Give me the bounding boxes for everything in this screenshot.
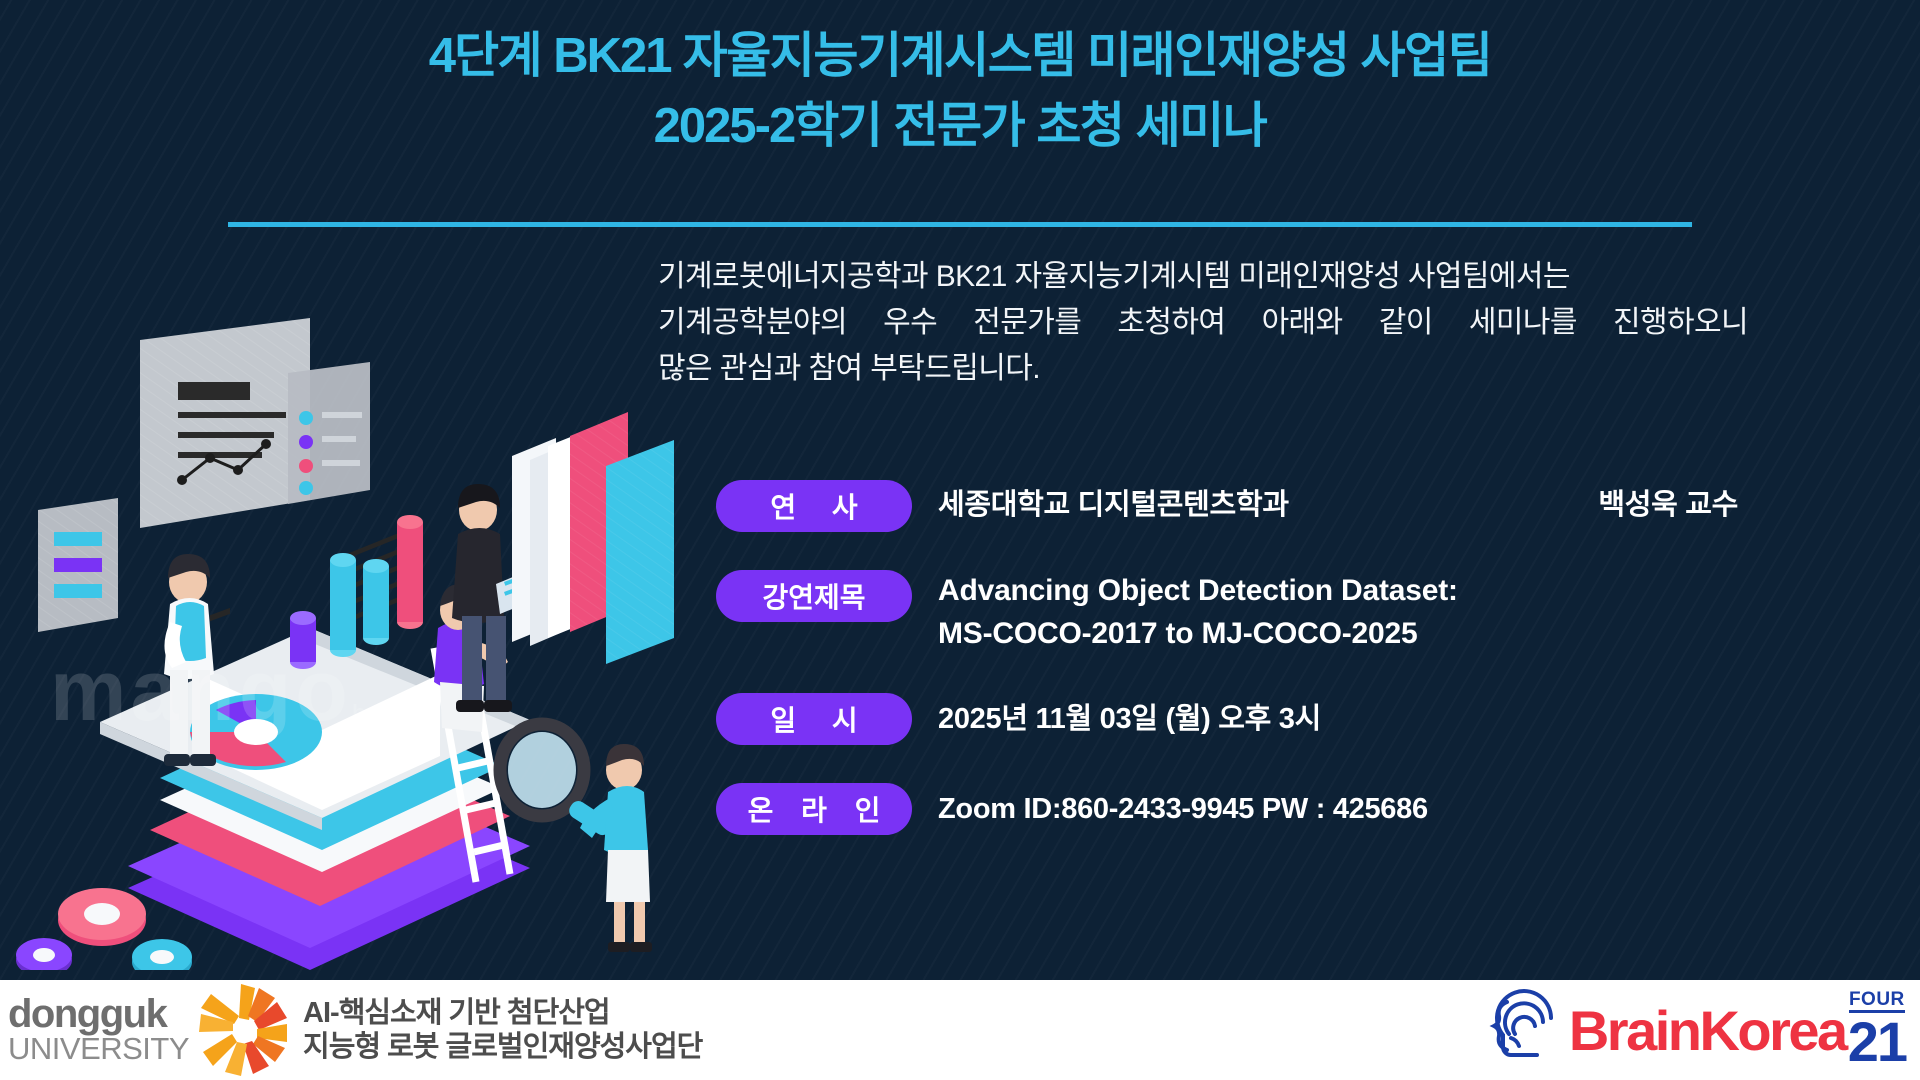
title-line-1-text-a: 단계: [454, 29, 553, 83]
title-line-1: 4단계 BK21 자율지능기계시스템 미래인재양성 사업팀: [0, 22, 1920, 92]
detail-row-speaker: 연 사 세종대학교 디지털콘텐츠학과 백성욱 교수: [716, 478, 1846, 532]
brainkorea-21-group: FOUR 21: [1848, 990, 1906, 1070]
dongguk-logo: dongguk UNIVERSITY: [8, 995, 189, 1065]
brainkorea-head-icon: [1481, 982, 1573, 1079]
lecture-title-line-2: MS-COCO-2017 to MJ-COCO-2025: [938, 613, 1458, 656]
title-line-2-text: 학기 전문가 초청 세미나: [794, 99, 1266, 153]
poster-footer: dongguk UNIVERSITY: [0, 980, 1920, 1080]
dongguk-name: dongguk: [8, 995, 189, 1034]
program-name: AI-핵심소재 기반 첨단산업 지능형 로봇 글로벌인재양성사업단: [303, 996, 702, 1064]
standing-books: [512, 412, 674, 664]
brainkorea-21-label: 21: [1848, 1014, 1906, 1070]
seminar-poster: 4단계 BK21 자율지능기계시스템 미래인재양성 사업팀 2025-2학기 전…: [0, 0, 1920, 1080]
badge-lecture-title: 강연제목: [716, 570, 912, 622]
program-line-2: 지능형 로봇 글로벌인재양성사업단: [303, 1030, 702, 1064]
lecture-title-value: Advancing Object Detection Dataset: MS-C…: [938, 568, 1458, 655]
title-divider: [228, 222, 1692, 227]
intro-word: 세미나를: [1469, 300, 1577, 346]
datetime-value: 2025년 11월 03일 (월) 오후 3시: [938, 691, 1321, 745]
intro-word: 같이: [1379, 300, 1433, 346]
lecture-title-line-1: Advancing Object Detection Dataset:: [938, 570, 1458, 613]
program-line-1: AI-핵심소재 기반 첨단산업: [303, 996, 702, 1030]
bar-chart-3d: [290, 515, 423, 669]
detail-row-online: 온 라 인 Zoom ID:860-2433-9945 PW : 425686: [716, 781, 1846, 835]
detail-row-datetime: 일 시 2025년 11월 03일 (월) 오후 3시: [716, 691, 1846, 745]
brainkorea-wordmark: BrainKorea: [1569, 998, 1846, 1063]
title-line-1-bold-prefix: 4: [429, 29, 454, 83]
intro-word: 우수: [883, 300, 937, 346]
intro-word: 아래와: [1262, 300, 1343, 346]
title-line-2-bold-term: 2025-2: [654, 99, 795, 153]
intro-line-3: 많은 관심과 참여 부탁드립니다.: [658, 346, 1748, 392]
badge-datetime: 일 시: [716, 693, 912, 745]
illustration-svg: [10, 270, 700, 970]
footer-left-group: dongguk UNIVERSITY: [8, 980, 702, 1080]
dongguk-sun-icon: [197, 980, 293, 1080]
title-line-1-bold-bk21: BK21: [553, 29, 670, 83]
brainkorea-logo: BrainKorea FOUR 21: [1481, 982, 1906, 1079]
title-line-1-text-b: 자율지능기계시스템 미래인재양성 사업팀: [671, 29, 1492, 83]
detail-row-lecture-title: 강연제목 Advancing Object Detection Dataset:…: [716, 568, 1846, 655]
speaker-row: 세종대학교 디지털콘텐츠학과 백성욱 교수: [938, 485, 1738, 526]
badge-speaker: 연 사: [716, 480, 912, 532]
intro-paragraph: 기계로봇에너지공학과 BK21 자율지능기계시템 미래인재양성 사업팀에서는 기…: [658, 254, 1748, 393]
seminar-details: 연 사 세종대학교 디지털콘텐츠학과 백성욱 교수 강연제목 Advancing…: [716, 478, 1846, 835]
intro-line-1: 기계로봇에너지공학과 BK21 자율지능기계시템 미래인재양성 사업팀에서는: [658, 254, 1748, 300]
online-value: Zoom ID:860-2433-9945 PW : 425686: [938, 781, 1428, 835]
intro-line-2: 기계공학분야의 우수 전문가를 초청하여 아래와 같이 세미나를 진행하오니: [658, 300, 1748, 346]
title-line-2: 2025-2학기 전문가 초청 세미나: [0, 92, 1920, 162]
dongguk-university-label: UNIVERSITY: [8, 1034, 189, 1064]
intro-word: 초청하여: [1117, 300, 1225, 346]
speaker-value: 세종대학교 디지털콘텐츠학과 백성욱 교수: [938, 478, 1738, 532]
speaker-affiliation: 세종대학교 디지털콘텐츠학과: [938, 485, 1289, 526]
intro-word: 전문가를: [973, 300, 1081, 346]
speaker-name: 백성욱 교수: [1598, 485, 1738, 526]
badge-online: 온 라 인: [716, 783, 912, 835]
poster-header: 4단계 BK21 자율지능기계시스템 미래인재양성 사업팀 2025-2학기 전…: [0, 22, 1920, 161]
intro-word: 진행하오니: [1613, 300, 1748, 346]
study-illustration: mangoboard: [10, 270, 700, 970]
person-with-magnifier: [580, 744, 652, 952]
